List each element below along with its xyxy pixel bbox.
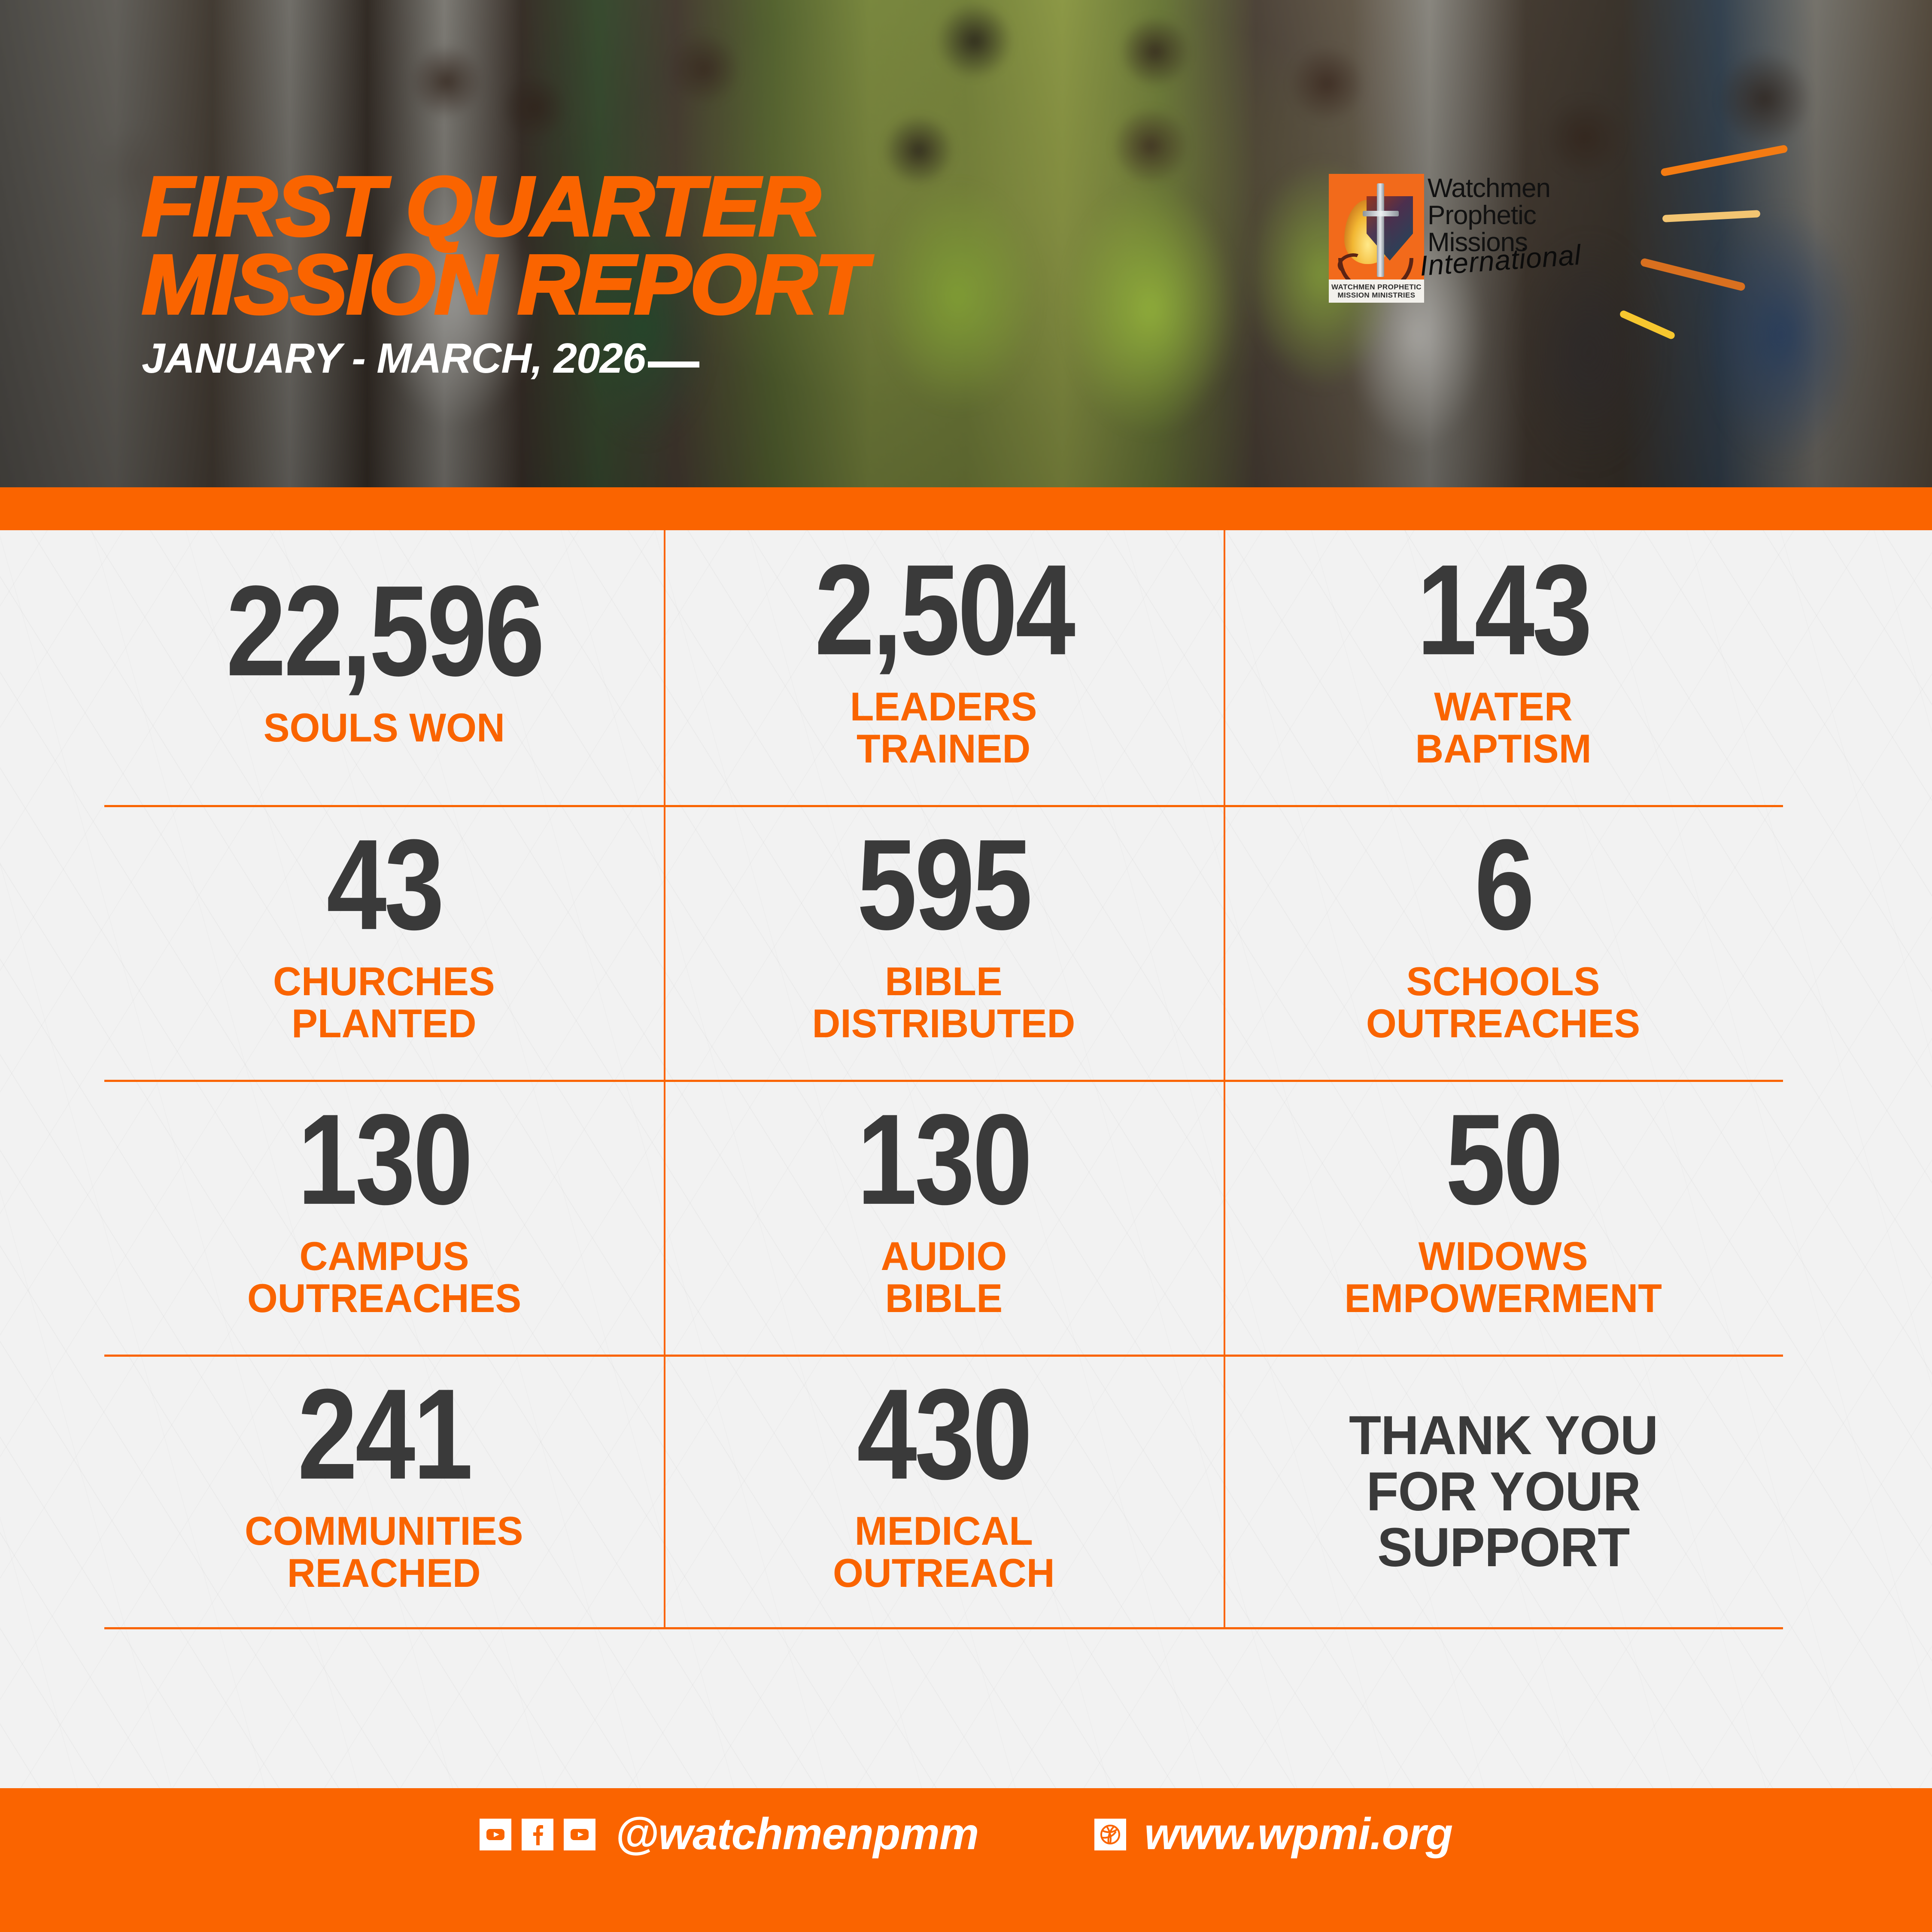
facebook-icon[interactable] xyxy=(522,1819,553,1850)
stat-label: MEDICALOUTREACH xyxy=(833,1510,1055,1594)
thank-you-cell: THANK YOUFOR YOURSUPPORT xyxy=(1224,1355,1783,1629)
report-date-range: JANUARY - MARCH, 2026 xyxy=(142,337,851,379)
youtube-icon[interactable] xyxy=(480,1819,511,1850)
stat-cell-schools-outreaches: 6 SCHOOLSOUTREACHES xyxy=(1224,805,1783,1080)
thank-you-message: THANK YOUFOR YOURSUPPORT xyxy=(1349,1408,1658,1576)
stat-cell-leaders-trained: 2,504 LEADERSTRAINED xyxy=(664,530,1223,805)
logo-mark-caption-line-1: WATCHMEN PROPHETIC xyxy=(1331,283,1422,291)
stat-value: 143 xyxy=(1417,553,1590,667)
stat-cell-communities-reached: 241 COMMUNITIESREACHED xyxy=(104,1355,664,1629)
stat-value: 595 xyxy=(857,828,1030,942)
stat-value: 6 xyxy=(1474,828,1532,942)
sword-guard-icon xyxy=(1363,211,1399,216)
logo-wordmark: Watchmen Prophetic Missions Internationa… xyxy=(1428,174,1550,256)
stat-cell-souls-won: 22,596 SOULS WON xyxy=(104,530,664,805)
logo-mark-icon: WATCHMEN PROPHETIC MISSION MINISTRIES xyxy=(1329,174,1424,303)
stat-label: SCHOOLSOUTREACHES xyxy=(1366,960,1640,1045)
stat-value: 22,596 xyxy=(226,574,542,688)
report-title-line-2: MISSION REPORT xyxy=(142,246,866,324)
header-banner: FIRST QUARTER MISSION REPORT JANUARY - M… xyxy=(0,0,1932,487)
stat-label: LEADERSTRAINED xyxy=(850,686,1037,770)
date-underline-dash xyxy=(648,361,699,368)
stat-label: BIBLEDISTRIBUTED xyxy=(812,960,1075,1045)
header-divider-bar xyxy=(0,487,1932,530)
stat-cell-audio-bible: 130 AUDIOBIBLE xyxy=(664,1080,1223,1355)
stat-value: 43 xyxy=(326,828,442,942)
stat-label: WIDOWSEMPOWERMENT xyxy=(1345,1235,1662,1319)
logo-word-prophetic: Prophetic xyxy=(1428,202,1550,229)
website-url[interactable]: www.wpmi.org xyxy=(1144,1809,1452,1860)
logo-mark-caption: WATCHMEN PROPHETIC MISSION MINISTRIES xyxy=(1329,279,1424,303)
stat-label: WATERBAPTISM xyxy=(1415,686,1591,770)
logo-word-watchmen: Watchmen xyxy=(1428,175,1550,202)
header-text-block: FIRST QUARTER MISSION REPORT JANUARY - M… xyxy=(142,167,851,379)
stat-cell-campus-outreaches: 130 CAMPUSOUTREACHES xyxy=(104,1080,664,1355)
stat-value: 430 xyxy=(857,1378,1030,1491)
stat-label: COMMUNITIESREACHED xyxy=(245,1510,523,1594)
stat-label: SOULS WON xyxy=(264,707,505,749)
stat-cell-medical-outreach: 430 MEDICALOUTREACH xyxy=(664,1355,1223,1629)
report-date-range-text: JANUARY - MARCH, 2026 xyxy=(142,334,645,382)
report-title-line-1: FIRST QUARTER xyxy=(142,167,866,246)
stat-cell-churches-planted: 43 CHURCHESPLANTED xyxy=(104,805,664,1080)
social-handle[interactable]: @watchmenpmm xyxy=(615,1809,978,1860)
stat-cell-bible-distributed: 595 BIBLEDISTRIBUTED xyxy=(664,805,1223,1080)
social-links xyxy=(480,1819,595,1850)
globe-icon[interactable] xyxy=(1094,1819,1126,1850)
stat-value: 130 xyxy=(298,1103,471,1216)
stats-section: 22,596 SOULS WON 2,504 LEADERSTRAINED 14… xyxy=(0,530,1932,1788)
stat-value: 50 xyxy=(1446,1103,1561,1216)
footer-bar: @watchmenpmm www.wpmi.org xyxy=(0,1788,1932,1932)
organization-logo: WATCHMEN PROPHETIC MISSION MINISTRIES Wa… xyxy=(1329,174,1550,303)
stat-cell-widows-empowerment: 50 WIDOWSEMPOWERMENT xyxy=(1224,1080,1783,1355)
stat-label: CAMPUSOUTREACHES xyxy=(247,1235,521,1319)
footer-content: @watchmenpmm www.wpmi.org xyxy=(0,1809,1932,1860)
stats-grid: 22,596 SOULS WON 2,504 LEADERSTRAINED 14… xyxy=(104,530,1783,1629)
logo-mark-caption-line-2: MISSION MINISTRIES xyxy=(1338,291,1416,299)
stat-value: 130 xyxy=(857,1103,1030,1216)
stat-value: 241 xyxy=(298,1378,471,1491)
stat-value: 2,504 xyxy=(814,553,1073,667)
stat-label: CHURCHESPLANTED xyxy=(273,960,495,1045)
youtube-icon[interactable] xyxy=(564,1819,595,1850)
stat-label: AUDIOBIBLE xyxy=(881,1235,1007,1319)
stat-cell-water-baptism: 143 WATERBAPTISM xyxy=(1224,530,1783,805)
